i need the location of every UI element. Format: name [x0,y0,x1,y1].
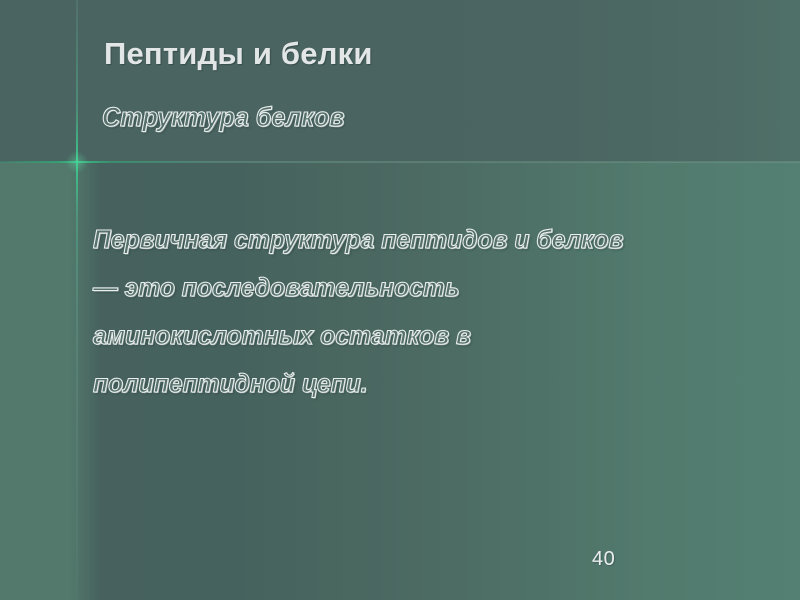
body-line: — это последовательность [93,263,682,311]
slide-title: Пептиды и белки [104,36,373,72]
page-number: 40 [592,548,615,571]
slide-body: Первичная структура пептидов и белков — … [93,215,713,407]
header-divider-rule-icon [0,161,800,163]
body-line: Первичная структура пептидов и белков [93,215,682,263]
body-line: полипептидной цепи. [93,359,682,407]
slide-subtitle: Структура белков [102,102,344,133]
left-accent-rule-icon [76,0,78,600]
presentation-slide: Пептиды и белки Структура белков Первичн… [0,0,800,600]
slide-header-band [0,0,800,162]
body-line: аминокислотных остатков в [93,311,682,359]
